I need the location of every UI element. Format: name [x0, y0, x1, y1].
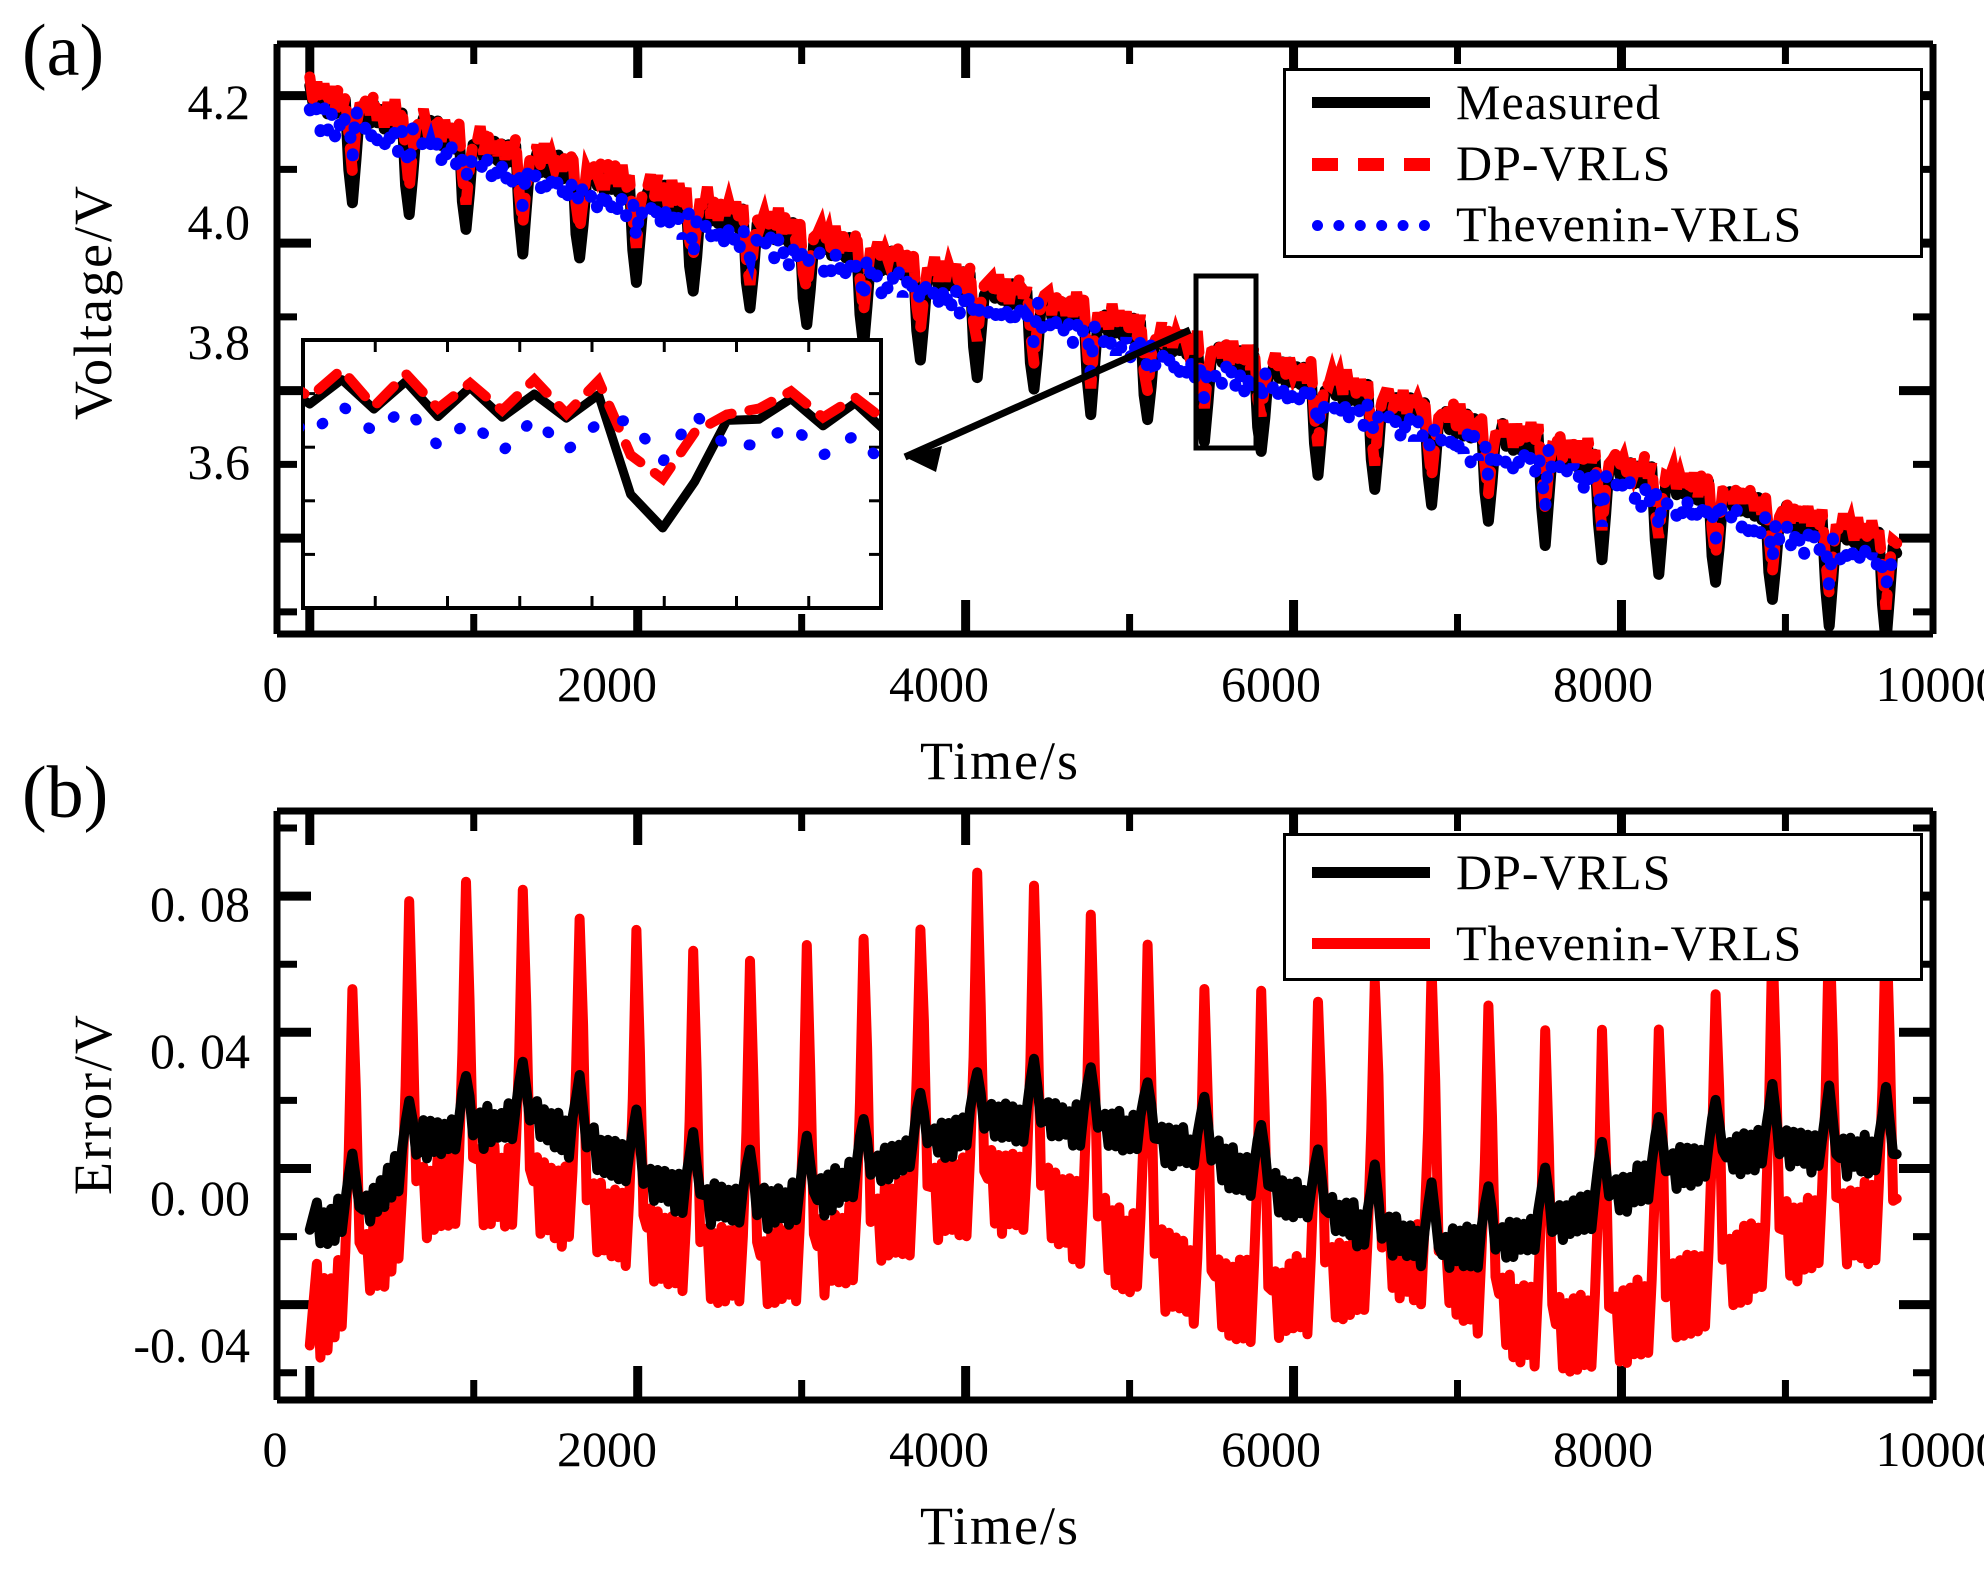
legend-key-solid-red-b-icon [1312, 929, 1430, 957]
panel-b-legend[interactable]: DP-VRLS Thevenin-VRLS [1283, 833, 1923, 981]
legend-key-solid-black-b-icon [1312, 858, 1430, 886]
legend-item-b-dp-vrls[interactable]: DP-VRLS [1286, 836, 1920, 907]
legend-label-b-thevenin-vrls: Thevenin-VRLS [1456, 914, 1802, 972]
figure-root: (a) Voltage/V 4.2 4.0 3.8 3.6 0 2000 400… [0, 0, 1984, 1592]
legend-label-b-dp-vrls: DP-VRLS [1456, 843, 1671, 901]
panel-b-plot [0, 0, 1984, 1592]
legend-item-b-thevenin-vrls[interactable]: Thevenin-VRLS [1286, 907, 1920, 978]
